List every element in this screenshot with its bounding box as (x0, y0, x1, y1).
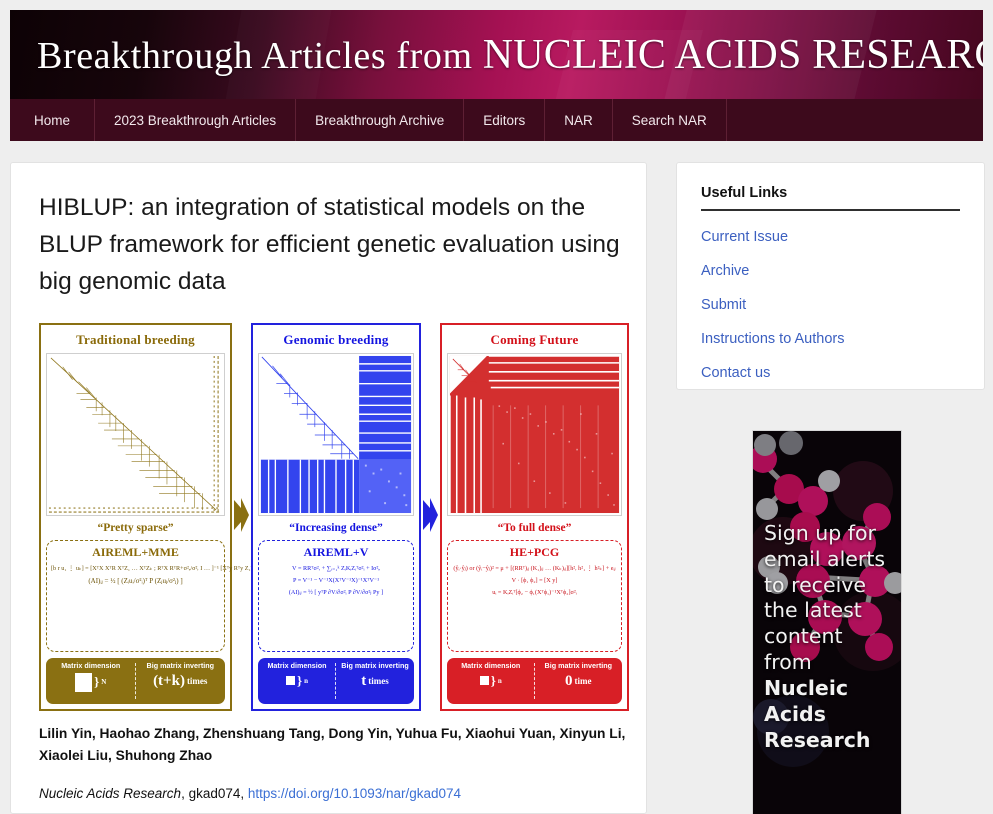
inverting-value-group: (t+k) times (153, 673, 207, 690)
nav-item-home[interactable]: Home (10, 99, 95, 141)
nav-item-nar[interactable]: NAR (545, 99, 613, 141)
banner-title: Breakthrough Articles from NUCLEIC ACIDS… (37, 31, 983, 79)
main-navigation: Home 2023 Breakthrough Articles Breakthr… (10, 99, 983, 141)
article-card: HIBLUP: an integration of statistical mo… (10, 162, 647, 814)
panel-method-label: AIREML+V (263, 545, 409, 560)
sidebar-link-contact-us[interactable]: Contact us (701, 365, 960, 381)
matrix-dimension-value-group: } n (286, 673, 308, 689)
inverting-count: 0 (565, 673, 573, 690)
matrix-dimension-value: N (101, 678, 106, 686)
equation-ai: (AI)ᵢⱼ = ½ [ (Zᵢuᵢ/σ²ᵢ)ᵀ P (Zⱼuⱼ/σ²ⱼ) ] (51, 576, 220, 587)
sidebar-link-current-issue[interactable]: Current Issue (701, 229, 960, 245)
matrix-plot-sparse (46, 353, 225, 516)
sidebar-link-submit[interactable]: Submit (701, 297, 960, 313)
figure-panel-traditional-breeding: Traditional breeding (39, 323, 232, 711)
matrix-plot-increasing-dense (258, 353, 414, 516)
brace-icon: } (94, 674, 99, 690)
ad-copy: Sign up for email alerts to receive the … (764, 521, 896, 753)
panel-summary-box: Matrix dimension } N Big matrix invertin… (46, 658, 225, 704)
brace-icon: } (491, 673, 496, 689)
citation-journal: Nucleic Acids Research (39, 786, 181, 801)
panel-formula-box: HE+PCG (ŷᵢ·ŷⱼ) or (ŷᵢ−ŷⱼ)² = μ + [(RRᵀ)ᵢ… (447, 540, 622, 652)
citation-separator: , (181, 786, 189, 801)
panel-method-label: AIREML+MME (51, 545, 220, 560)
useful-links-title: Useful Links (701, 185, 960, 211)
matrix-square-icon (75, 673, 92, 692)
matrix-dimension-block: Matrix dimension } n (447, 658, 535, 704)
matrix-dimension-value-group: } N (75, 673, 106, 692)
matrix-square-icon (286, 676, 295, 685)
matrix-dimension-label: Matrix dimension (61, 661, 120, 670)
right-arrow-icon (422, 498, 439, 532)
equation-p: P = V⁻¹ − V⁻¹X(XᵀV⁻¹X)⁻¹XᵀV⁻¹ (263, 576, 409, 585)
right-arrow-icon (233, 498, 250, 532)
inverting-unit: times (368, 676, 389, 686)
figure-panel-coming-future: Coming Future (440, 323, 629, 711)
matrix-dimension-value: n (304, 677, 308, 685)
graphical-abstract-figure: Traditional breeding (39, 323, 636, 707)
nav-item-2023-breakthrough-articles[interactable]: 2023 Breakthrough Articles (95, 99, 296, 141)
matrix-dimension-block: Matrix dimension } N (46, 658, 136, 704)
equation-u: uᵢ = KᵢZᵢᵀ[ϕ₂ − ϕ₁(Xᵀϕ₁)⁻¹Xᵀϕ₂]σ²ᵢ (452, 588, 617, 597)
panel-formula-box: AIREML+V V = RRᵀσ²ᵣ + ∑ᵢ₌₁ᵏ ZᵢKᵢZᵢᵀσ²ᵢ +… (258, 540, 414, 652)
figure-panel-genomic-breeding: Genomic breeding (251, 323, 421, 711)
equation-mme: [b r u₁ ⋮ uₖ] = [XᵀX XᵀR XᵀZ₁ … XᵀZₖ ; R… (51, 564, 220, 573)
inverting-count: t (361, 673, 366, 690)
sidebar-link-instructions-to-authors[interactable]: Instructions to Authors (701, 331, 960, 347)
site-banner: Breakthrough Articles from NUCLEIC ACIDS… (10, 10, 983, 99)
useful-links-card: Useful Links Current Issue Archive Submi… (676, 162, 985, 390)
equation-pcg: V · [ϕ₁ ϕ₂] = [X y] (452, 576, 617, 585)
matrix-dimension-label: Matrix dimension (461, 661, 520, 670)
matrix-inverting-block: Big matrix inverting 0 time (535, 658, 623, 704)
matrix-dimension-value: n (498, 677, 502, 685)
matrix-dimension-block: Matrix dimension } n (258, 658, 336, 704)
citation-article-id: gkad074 (189, 786, 241, 801)
inverting-label: Big matrix inverting (147, 661, 215, 670)
panel-density-caption: “Pretty sparse” (46, 516, 225, 540)
inverting-label: Big matrix inverting (545, 661, 613, 670)
equation-he: (ŷᵢ·ŷⱼ) or (ŷᵢ−ŷⱼ)² = μ + [(RRᵀ)ᵢⱼ (K₁)ᵢ… (452, 564, 617, 573)
equation-v: V = RRᵀσ²ᵣ + ∑ᵢ₌₁ᵏ ZᵢKᵢZᵢᵀσ²ᵢ + Iσ²ₑ (263, 564, 409, 573)
dense-matrix-svg (259, 354, 413, 515)
panel-heading: Coming Future (447, 329, 622, 353)
matrix-plot-full-dense (447, 353, 622, 516)
inverting-label: Big matrix inverting (341, 661, 409, 670)
sidebar: Useful Links Current Issue Archive Submi… (676, 162, 985, 390)
citation-separator: , (240, 786, 248, 801)
brace-icon: } (297, 673, 302, 689)
panel-density-caption: “Increasing dense” (258, 516, 414, 540)
panel-formula-box: AIREML+MME [b r u₁ ⋮ uₖ] = [XᵀX XᵀR XᵀZ₁… (46, 540, 225, 652)
doi-link[interactable]: https://doi.org/10.1093/nar/gkad074 (248, 786, 461, 801)
sparse-matrix-svg (47, 354, 224, 515)
matrix-square-icon (480, 676, 489, 685)
panel-equations: V = RRᵀσ²ᵣ + ∑ᵢ₌₁ᵏ ZᵢKᵢZᵢᵀσ²ᵢ + Iσ²ₑ P =… (263, 564, 409, 598)
panel-heading: Genomic breeding (258, 329, 414, 353)
inverting-unit: time (575, 676, 592, 686)
matrix-inverting-block: Big matrix inverting (t+k) times (136, 658, 226, 704)
nav-item-breakthrough-archive[interactable]: Breakthrough Archive (296, 99, 464, 141)
matrix-dimension-label: Matrix dimension (267, 661, 326, 670)
equation-ai: (AI)ᵢⱼ = ½ [ yᵀP ∂V/∂σ²ᵢ P ∂V/∂σ²ⱼ Py ] (263, 588, 409, 597)
panel-equations: [b r u₁ ⋮ uₖ] = [XᵀX XᵀR XᵀZ₁ … XᵀZₖ ; R… (51, 564, 220, 587)
article-title: HIBLUP: an integration of statistical mo… (39, 189, 624, 301)
ad-copy-line: Sign up for email alerts to receive the … (764, 521, 885, 674)
nav-item-search-nar[interactable]: Search NAR (613, 99, 727, 141)
banner-title-lead: Breakthrough Articles from (37, 35, 473, 77)
banner-title-journal: NUCLEIC ACIDS RESEARCH (483, 32, 983, 78)
full-dense-matrix-svg (448, 354, 621, 515)
panel-heading: Traditional breeding (46, 329, 225, 353)
panel-summary-box: Matrix dimension } n Big matrix invertin… (258, 658, 414, 704)
panel-density-caption: “To full dense” (447, 516, 622, 540)
sidebar-link-archive[interactable]: Archive (701, 263, 960, 279)
email-alerts-advertisement[interactable]: Sign up for email alerts to receive the … (752, 430, 902, 814)
matrix-dimension-value-group: } n (480, 673, 502, 689)
matrix-inverting-block: Big matrix inverting t times (336, 658, 414, 704)
inverting-count: (t+k) (153, 673, 185, 690)
ad-brand: Nucleic Acids Research (764, 676, 870, 752)
arrow-traditional-to-genomic (232, 323, 251, 707)
author-list: Lilin Yin, Haohao Zhang, Zhenshuang Tang… (39, 723, 629, 769)
page-root: Breakthrough Articles from NUCLEIC ACIDS… (0, 0, 993, 814)
inverting-value-group: t times (361, 673, 389, 690)
citation-line: Nucleic Acids Research, gkad074, https:/… (39, 786, 626, 801)
inverting-value-group: 0 time (565, 673, 592, 690)
nav-item-editors[interactable]: Editors (464, 99, 545, 141)
arrow-genomic-to-future (421, 323, 440, 707)
panel-equations: (ŷᵢ·ŷⱼ) or (ŷᵢ−ŷⱼ)² = μ + [(RRᵀ)ᵢⱼ (K₁)ᵢ… (452, 564, 617, 598)
inverting-unit: times (187, 676, 208, 686)
panel-method-label: HE+PCG (452, 545, 617, 560)
panel-summary-box: Matrix dimension } n Big matrix invertin… (447, 658, 622, 704)
